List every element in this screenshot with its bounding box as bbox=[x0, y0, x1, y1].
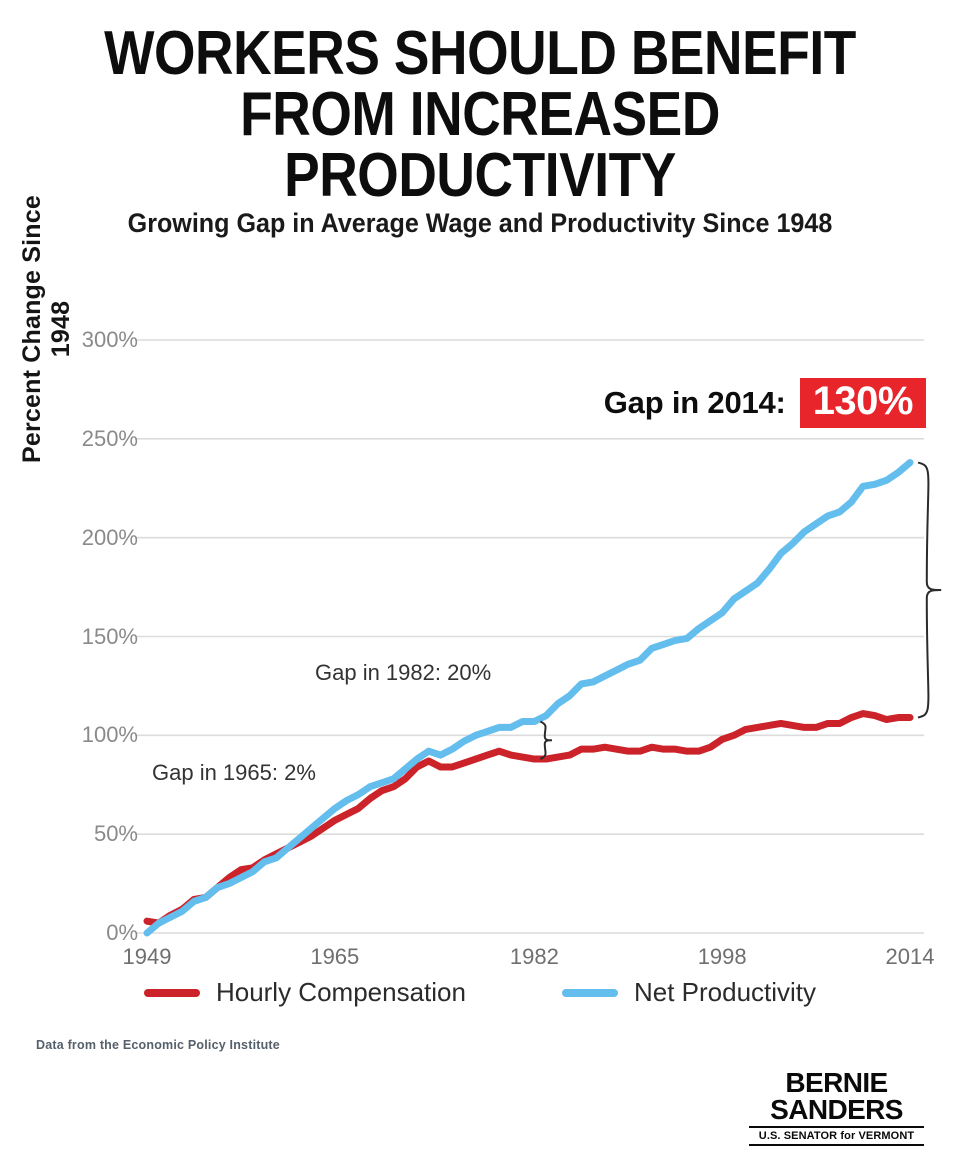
legend-label-hourly-compensation: Hourly Compensation bbox=[216, 977, 466, 1008]
infographic-root: WORKERS SHOULD BENEFIT FROM INCREASED PR… bbox=[0, 0, 960, 1164]
headline-line-2: FROM INCREASED PRODUCTIVITY bbox=[67, 85, 893, 207]
y-axis-tick-300: 300% bbox=[46, 327, 138, 353]
series-line-hourly-compensation bbox=[147, 714, 910, 924]
series-line-net-productivity bbox=[147, 463, 910, 933]
y-axis-tick-150: 150% bbox=[46, 624, 138, 650]
gap-callout: Gap in 2014: 130% bbox=[604, 378, 926, 428]
headline-line-1: WORKERS SHOULD BENEFIT bbox=[104, 19, 856, 88]
x-axis-tick-1965: 1965 bbox=[310, 944, 359, 970]
annotation-gap-1965: Gap in 1965: 2% bbox=[152, 760, 316, 786]
annotation-gap-1982: Gap in 1982: 20% bbox=[315, 660, 491, 686]
gap-callout-label: Gap in 2014: bbox=[604, 385, 786, 421]
logo-line-sanders: SANDERS bbox=[749, 1097, 924, 1124]
logo-divider bbox=[749, 1126, 924, 1128]
legend-swatch-red bbox=[144, 989, 200, 997]
y-axis-tick-50: 50% bbox=[46, 821, 138, 847]
bernie-sanders-logo: BERNIE SANDERS U.S. SENATOR for VERMONT bbox=[749, 1070, 924, 1146]
x-axis-tick-1998: 1998 bbox=[698, 944, 747, 970]
chart-legend: Hourly Compensation Net Productivity bbox=[0, 977, 960, 1008]
legend-item-hourly-compensation: Hourly Compensation bbox=[144, 977, 466, 1008]
legend-item-net-productivity: Net Productivity bbox=[562, 977, 816, 1008]
source-attribution: Data from the Economic Policy Institute bbox=[36, 1038, 280, 1052]
y-axis-tick-200: 200% bbox=[46, 525, 138, 551]
page-subtitle: Growing Gap in Average Wage and Producti… bbox=[34, 208, 927, 239]
gap-brace bbox=[918, 463, 941, 718]
gap-brace bbox=[540, 721, 552, 759]
page-title: WORKERS SHOULD BENEFIT FROM INCREASED PR… bbox=[67, 24, 893, 206]
y-axis-tick-0: 0% bbox=[46, 920, 138, 946]
legend-swatch-blue bbox=[562, 989, 618, 997]
x-axis-tick-1949: 1949 bbox=[123, 944, 172, 970]
x-axis-tick-1982: 1982 bbox=[510, 944, 559, 970]
logo-divider-bottom bbox=[749, 1144, 924, 1146]
y-axis-tick-250: 250% bbox=[46, 426, 138, 452]
y-axis-tick-100: 100% bbox=[46, 722, 138, 748]
logo-line-bernie: BERNIE bbox=[749, 1070, 924, 1097]
x-axis-tick-2014: 2014 bbox=[886, 944, 935, 970]
legend-label-net-productivity: Net Productivity bbox=[634, 977, 816, 1008]
logo-tagline: U.S. SENATOR for VERMONT bbox=[749, 1130, 924, 1142]
gap-callout-value: 130% bbox=[800, 378, 926, 428]
